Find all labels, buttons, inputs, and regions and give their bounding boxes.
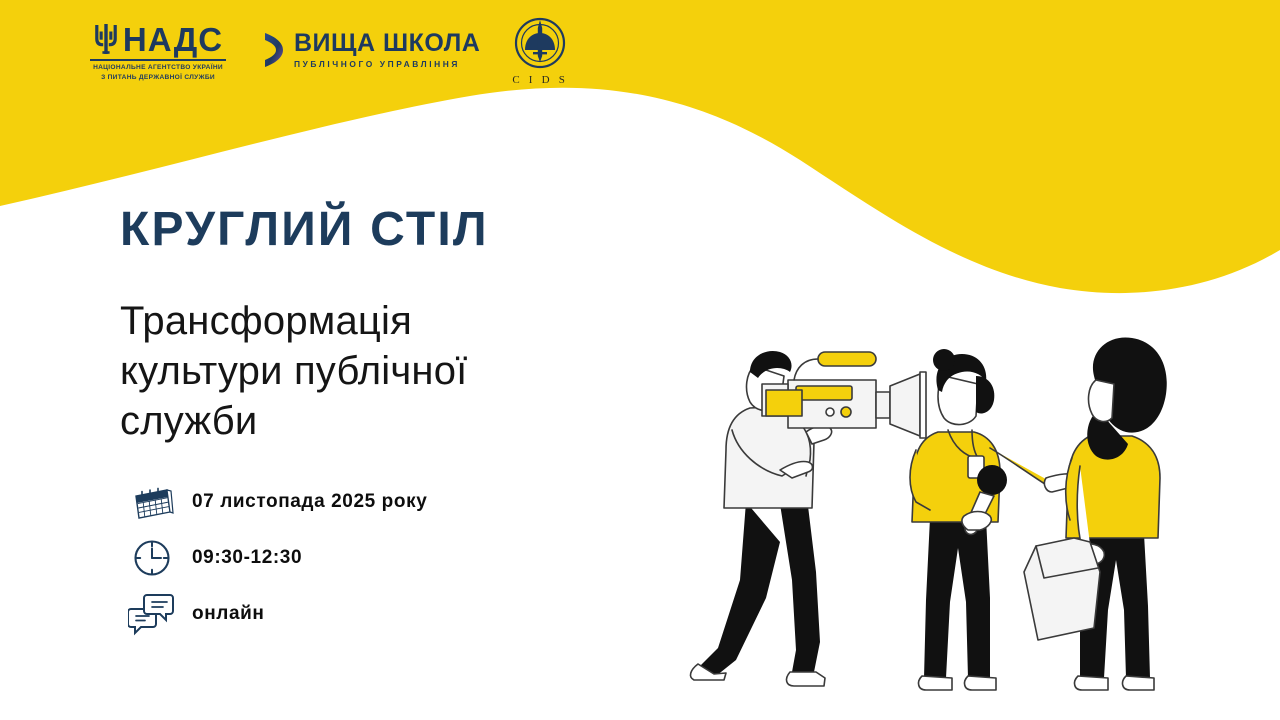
clock-icon bbox=[126, 532, 178, 584]
detail-row-date: 07 листопада 2025 року bbox=[126, 474, 427, 530]
page-title: КРУГЛИЙ СТІЛ bbox=[120, 206, 640, 254]
event-poster: НАДС НАЦІОНАЛЬНЕ АГЕНТСТВО УКРАЇНИ З ПИТ… bbox=[0, 0, 1280, 720]
logo-vyshcha-shkola: ВИЩА ШКОЛА ПУБЛІЧНОГО УПРАВЛІННЯ bbox=[262, 0, 480, 70]
detail-time-label: 09:30-12:30 bbox=[192, 547, 302, 569]
press-interview-illustration bbox=[680, 280, 1240, 700]
logo-nads: НАДС НАЦІОНАЛЬНЕ АГЕНТСТВО УКРАЇНИ З ПИТ… bbox=[84, 0, 232, 83]
reporter-with-microphone-figure bbox=[910, 349, 1079, 690]
logo-cids: C I D S bbox=[512, 0, 568, 86]
logo-vyshcha-shkola-subtitle: ПУБЛІЧНОГО УПРАВЛІННЯ bbox=[294, 60, 480, 68]
ukraine-trident-icon bbox=[93, 22, 119, 56]
page-subtitle: Трансформація культури публічної служби bbox=[120, 296, 640, 446]
calendar-icon bbox=[126, 476, 178, 528]
logo-nads-subtitle-line2: З ПИТАНЬ ДЕРЖАВНОЇ СЛУЖБИ bbox=[101, 73, 215, 83]
detail-row-format: онлайн bbox=[126, 586, 427, 642]
cids-emblem-icon bbox=[513, 16, 567, 72]
logo-nads-subtitle-line1: НАЦІОНАЛЬНЕ АГЕНТСТВО УКРАЇНИ bbox=[93, 63, 223, 73]
logo-bar: НАДС НАЦІОНАЛЬНЕ АГЕНТСТВО УКРАЇНИ З ПИТ… bbox=[0, 0, 1280, 104]
logo-cids-caption: C I D S bbox=[512, 74, 568, 86]
interviewee-with-folder-figure bbox=[1024, 337, 1167, 690]
chevron-mark-icon bbox=[262, 30, 288, 70]
detail-format-label: онлайн bbox=[192, 603, 264, 625]
logo-nads-rule bbox=[90, 59, 226, 61]
event-details-list: 07 листопада 2025 року bbox=[126, 474, 427, 642]
logo-vyshcha-shkola-word: ВИЩА ШКОЛА bbox=[294, 31, 480, 56]
detail-date-label: 07 листопада 2025 року bbox=[192, 491, 427, 513]
hero-text-column: КРУГЛИЙ СТІЛ Трансформація культури публ… bbox=[120, 206, 640, 446]
chat-bubbles-icon bbox=[126, 588, 178, 640]
camera-operator-figure bbox=[691, 351, 926, 686]
logo-nads-word: НАДС bbox=[123, 23, 223, 56]
detail-row-time: 09:30-12:30 bbox=[126, 530, 427, 586]
